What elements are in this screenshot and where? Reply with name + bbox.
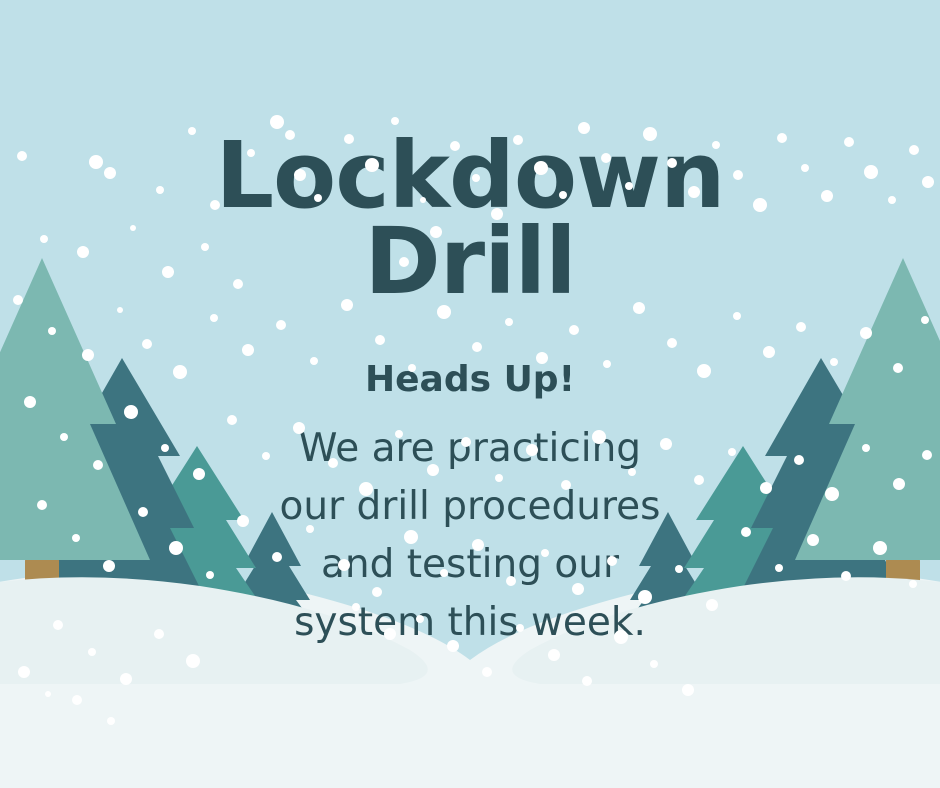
winter-scene-illustration (0, 0, 940, 788)
lockdown-drill-poster: LockdownDrill Heads Up! We are practicin… (0, 0, 940, 788)
